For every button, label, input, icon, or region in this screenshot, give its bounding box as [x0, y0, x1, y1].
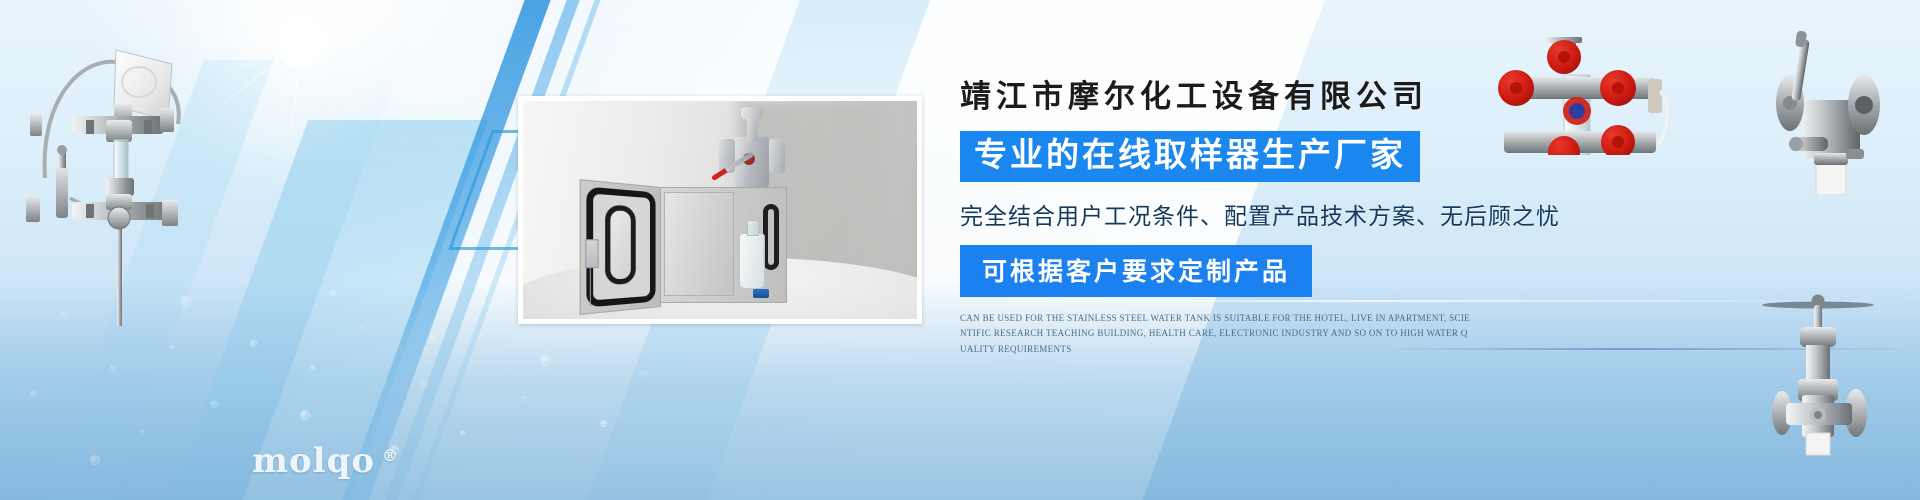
fineprint-line: CAN BE USED FOR THE STAINLESS STEEL WATE…: [960, 311, 1560, 326]
fineprint-line: NTIFIC RESEARCH TEACHING BUILDING, HEALT…: [960, 326, 1560, 341]
registered-trademark-icon: ®: [382, 446, 399, 465]
water-droplet: [360, 325, 365, 330]
water-droplet: [300, 410, 310, 420]
water-droplet: [250, 340, 257, 347]
subline-text: 完全结合用户工况条件、配置产品技术方案、无后顾之忧: [960, 197, 1720, 231]
watermark-logo: molqo ®: [252, 444, 399, 478]
cabinet-side-gasket: [763, 204, 779, 270]
sampler-valve-assembly: [709, 107, 795, 195]
bottle-neck: [747, 220, 759, 236]
banner-text-block: 靖江市摩尔化工设备有限公司 专业的在线取样器生产厂家 完全结合用户工况条件、配置…: [960, 78, 1720, 357]
water-droplet: [30, 390, 37, 397]
headline-chip: 专业的在线取样器生产厂家: [960, 131, 1420, 182]
cabinet-door: [580, 179, 661, 315]
sampling-rig-illustration: [10, 28, 210, 328]
valve-cap: [741, 107, 763, 119]
sunburst-icon: [195, 0, 425, 145]
handwheel-valve-illustration: [1760, 275, 1910, 460]
fineprint-paragraph: CAN BE USED FOR THE STAINLESS STEEL WATE…: [960, 311, 1560, 357]
door-latch: [585, 239, 598, 268]
water-droplet: [90, 455, 100, 465]
valve-flange-right: [769, 139, 785, 173]
photo-content: [523, 101, 917, 319]
water-droplet: [170, 345, 174, 349]
watermark-text: molqo: [252, 444, 375, 478]
promo-banner: 靖江市摩尔化工设备有限公司 专业的在线取样器生产厂家 完全结合用户工况条件、配置…: [0, 0, 1920, 500]
water-droplet: [310, 365, 315, 370]
water-droplet: [430, 335, 434, 339]
sampler-cabinet-photo: [518, 96, 922, 324]
water-droplet: [140, 430, 145, 435]
water-droplet: [210, 400, 218, 408]
company-title: 靖江市摩尔化工设备有限公司: [960, 78, 1720, 117]
door-key: [590, 268, 591, 306]
water-droplet: [480, 300, 486, 306]
sample-bottle: [739, 233, 765, 289]
water-droplet: [520, 395, 527, 402]
blue-bottle-cap: [753, 289, 769, 298]
door-window: [605, 204, 636, 285]
cabinet-interior: [664, 192, 734, 296]
cabinet-enclosure: [655, 187, 787, 303]
cta-chip[interactable]: 可根据客户要求定制产品: [960, 245, 1312, 297]
water-droplet: [640, 370, 648, 378]
fineprint-line: UALITY REQUIREMENTS: [960, 342, 1560, 357]
water-droplet: [110, 365, 116, 371]
water-droplet: [330, 290, 336, 296]
water-droplet: [600, 420, 607, 427]
lever-valve-illustration: [1760, 25, 1910, 195]
water-droplet: [540, 355, 551, 366]
water-droplet: [420, 380, 428, 388]
water-droplet: [460, 430, 465, 435]
